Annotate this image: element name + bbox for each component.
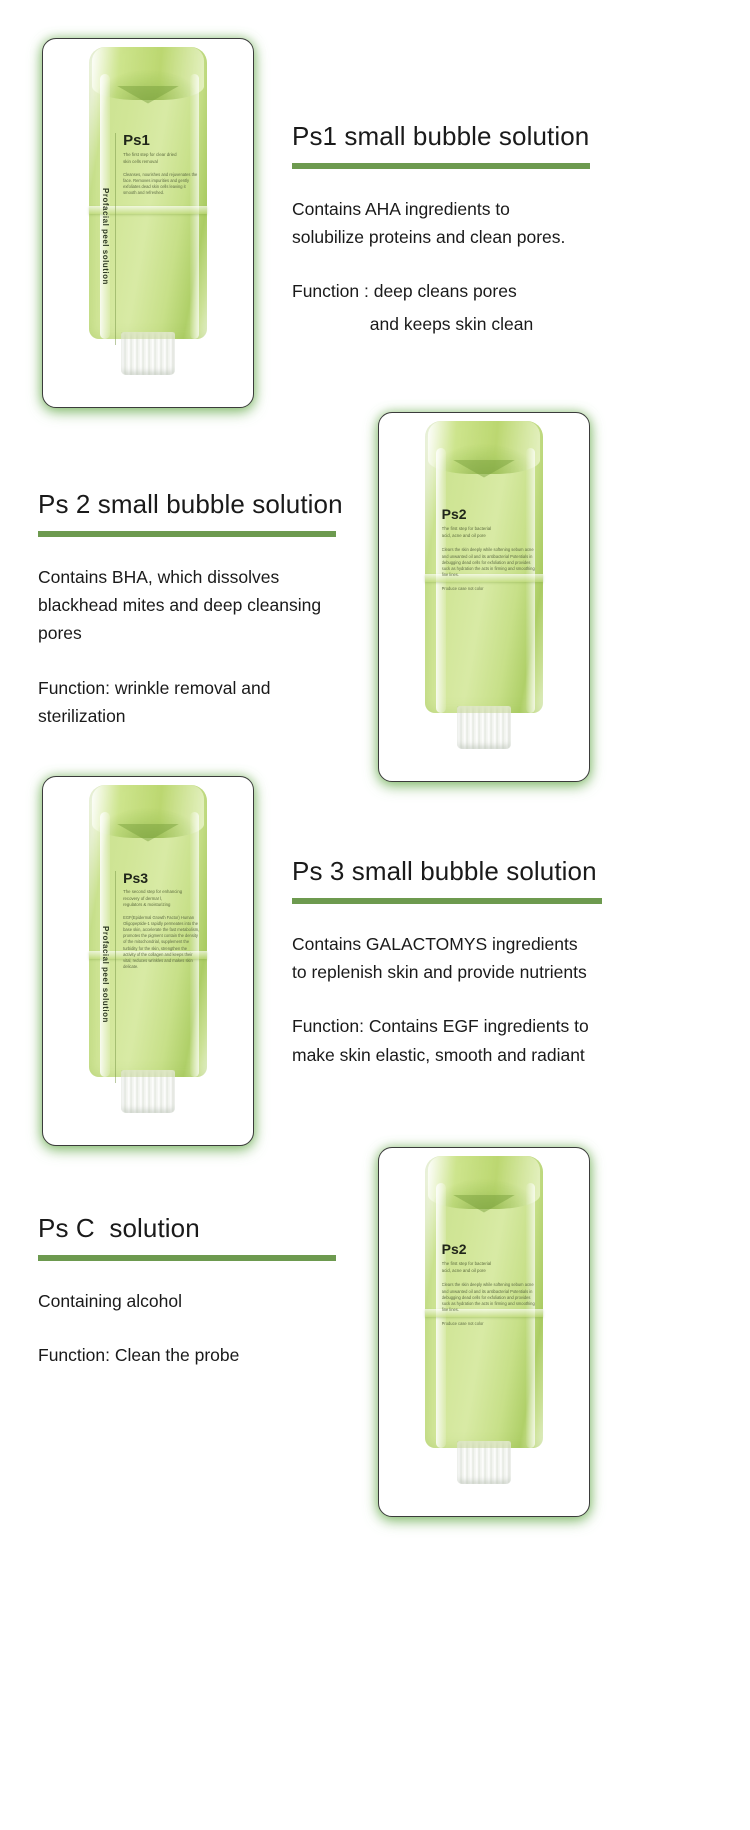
bottle-label-desc-ps2: Clears the skin deeply while softening s… <box>442 547 536 578</box>
section-function-psc: Function: Clean the probe <box>38 1341 368 1369</box>
bottle-label-desc-ps3: EGF(Epidermal Growth Factor) Human Oligo… <box>123 915 200 970</box>
bottle-cap <box>457 1441 511 1484</box>
card-inner-ps2: Ps2 The first step for bacterial acid, a… <box>379 413 589 781</box>
bottle-label-vertical-ps3: Profacial peel solution <box>94 858 109 1090</box>
bottle-label-sub-ps3: The second step for enhancing recovery o… <box>123 889 200 908</box>
section-rule-ps1 <box>292 163 590 169</box>
bottle-label-desc-ps1: Cleanses, nourishes and rejuvenates the … <box>123 172 200 197</box>
section-heading-psc: Ps C solution <box>38 1212 368 1245</box>
bottle-label-name-ps3: Ps3 <box>123 871 200 885</box>
text-block-psc: Ps C solution Containing alcohol Functio… <box>38 1212 368 1369</box>
bottle-label-block-psc: Ps2 The first step for bacterial acid, a… <box>442 1242 536 1454</box>
section-rule-ps3 <box>292 898 602 904</box>
text-block-ps2: Ps 2 small bubble solution Contains BHA,… <box>38 488 368 730</box>
section-rule-ps2 <box>38 531 336 537</box>
bottle-cap <box>457 706 511 749</box>
section-rule-psc <box>38 1255 336 1261</box>
bottle-ps3: Profacial peel solution Ps3 The second s… <box>89 785 207 1116</box>
text-block-ps3: Ps 3 small bubble solution Contains GALA… <box>292 855 632 1069</box>
bottle-label-name-ps1: Ps1 <box>123 133 200 148</box>
bottle-label-vertical-ps1: Profacial peel solution <box>94 120 109 352</box>
section-heading-ps3: Ps 3 small bubble solution <box>292 855 632 888</box>
bottle-label-block-ps2: Ps2 The first step for bacterial acid, a… <box>442 507 536 719</box>
bottle-label-name-psc: Ps2 <box>442 1242 536 1256</box>
product-card-ps1: Profacial peel solution Ps1 The first st… <box>42 38 254 408</box>
bottle-psc: Ps2 The first step for bacterial acid, a… <box>425 1156 543 1487</box>
bottle-label-foot-ps2: Produce case not color <box>442 586 536 591</box>
card-inner-psc: Ps2 The first step for bacterial acid, a… <box>379 1148 589 1516</box>
product-card-ps2: Ps2 The first step for bacterial acid, a… <box>378 412 590 782</box>
section-heading-ps1: Ps1 small bubble solution <box>292 120 622 153</box>
text-block-ps1: Ps1 small bubble solution Contains AHA i… <box>292 120 622 338</box>
bottle-label-name-ps2: Ps2 <box>442 507 536 521</box>
section-body-psc: Containing alcohol <box>38 1287 368 1315</box>
product-card-psc: Ps2 The first step for bacterial acid, a… <box>378 1147 590 1517</box>
bottle-label-sub-psc: The first step for bacterial acid, acne … <box>442 1261 536 1274</box>
bottle-label-sub-ps1: The first step for clear dried skin cell… <box>123 152 200 165</box>
bottle-label-block-ps1: Ps1 The first step for clear dried skin … <box>115 133 200 345</box>
bottle-ps1: Profacial peel solution Ps1 The first st… <box>89 47 207 378</box>
bottle-cap <box>121 332 175 375</box>
product-infographic-page: Profacial peel solution Ps1 The first st… <box>0 0 750 1830</box>
section-body-ps1: Contains AHA ingredients to solubilize p… <box>292 195 622 252</box>
section-function-ps1-line2: and keeps skin clean <box>292 310 622 338</box>
section-function-ps1: Function : deep cleans pores <box>292 277 622 305</box>
section-heading-ps2: Ps 2 small bubble solution <box>38 488 368 521</box>
card-inner-ps1: Profacial peel solution Ps1 The first st… <box>43 39 253 407</box>
section-function-ps2: Function: wrinkle removal and sterilizat… <box>38 674 368 731</box>
card-inner-ps3: Profacial peel solution Ps3 The second s… <box>43 777 253 1145</box>
bottle-label-block-ps3: Ps3 The second step for enhancing recove… <box>115 871 200 1083</box>
section-body-ps2: Contains BHA, which dissolves blackhead … <box>38 563 368 648</box>
section-body-ps3: Contains GALACTOMYS ingredients to reple… <box>292 930 632 987</box>
bottle-ps2: Ps2 The first step for bacterial acid, a… <box>425 421 543 752</box>
bottle-label-desc-psc: Clears the skin deeply while softening s… <box>442 1282 536 1313</box>
product-card-ps3: Profacial peel solution Ps3 The second s… <box>42 776 254 1146</box>
bottle-cap <box>121 1070 175 1113</box>
section-function-ps3: Function: Contains EGF ingredients to ma… <box>292 1012 632 1069</box>
bottle-label-foot-psc: Produce case not color <box>442 1321 536 1326</box>
bottle-label-sub-ps2: The first step for bacterial acid, acne … <box>442 526 536 539</box>
